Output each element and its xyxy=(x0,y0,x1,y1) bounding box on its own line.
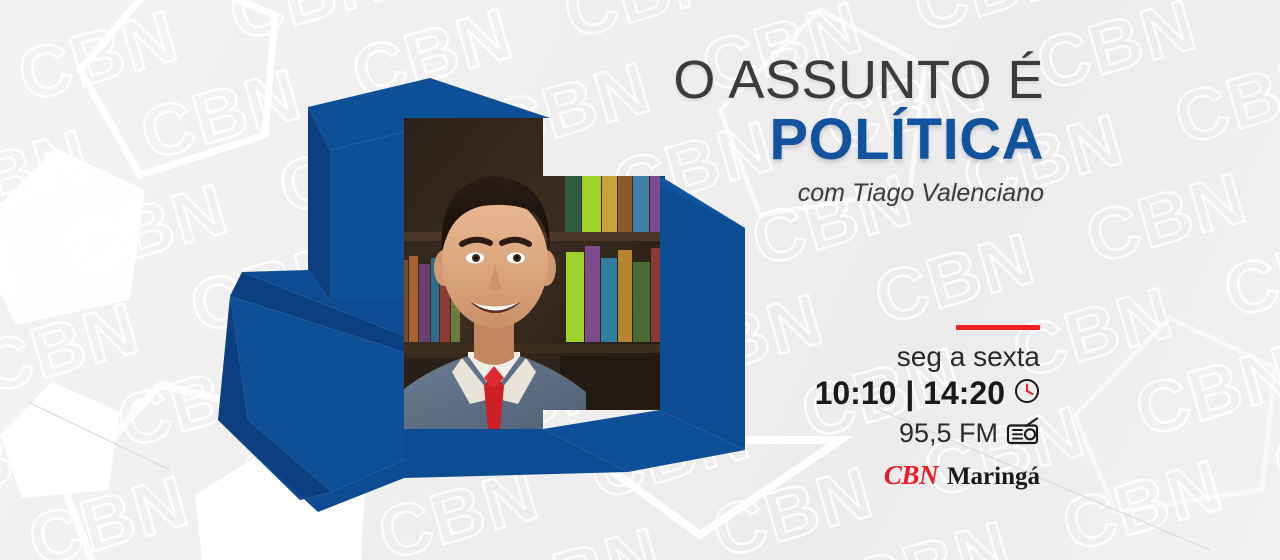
watermark-word: CBN xyxy=(1055,449,1231,560)
schedule-info-block: seg a sexta 10:10 | 14:20 95,5 FM xyxy=(780,325,1040,491)
program-title-line2: POLÍTICA xyxy=(444,110,1044,171)
program-title-block: O ASSUNTO É POLÍTICA com Tiago Valencian… xyxy=(444,52,1044,208)
blue-face-left-panel xyxy=(330,132,404,300)
program-title-line1: O ASSUNTO É xyxy=(444,52,1044,108)
watermark-word: CBN xyxy=(1217,216,1280,330)
program-host-credit: com Tiago Valenciano xyxy=(444,179,1044,208)
radio-icon xyxy=(1006,417,1040,450)
radio-program-banner: CBNCBNCBNCBNCBNCBNCBNCBNCBNCBNCBNCBNCBNC… xyxy=(0,0,1280,560)
watermark-word: CBN xyxy=(1128,335,1280,449)
watermark-word: CBN xyxy=(1267,389,1280,503)
frequency-label: 95,5 FM xyxy=(899,418,998,449)
watermark-word: CBN xyxy=(906,0,1082,44)
brand-network-name: CBN xyxy=(884,460,938,491)
decor-polygon-outline-5 xyxy=(1050,300,1280,560)
watermark-word: CBN xyxy=(1029,0,1205,102)
station-brand-row: CBN Maringá xyxy=(780,460,1040,491)
clock-icon xyxy=(1014,378,1040,409)
red-accent-rule xyxy=(956,325,1040,330)
blue-face-right-outer xyxy=(660,176,745,450)
watermark-word: CBN xyxy=(1079,162,1255,276)
brand-city-name: Maringá xyxy=(947,463,1040,491)
watermark-word: CBN xyxy=(844,510,1020,560)
schedule-times: 10:10 | 14:20 xyxy=(815,375,1005,412)
schedule-days: seg a sexta xyxy=(780,341,1040,372)
frequency-row: 95,5 FM xyxy=(780,417,1040,450)
watermark-word: CBN xyxy=(1167,43,1280,157)
schedule-times-row: 10:10 | 14:20 xyxy=(780,375,1040,412)
watermark-word: CBN xyxy=(867,222,1043,336)
